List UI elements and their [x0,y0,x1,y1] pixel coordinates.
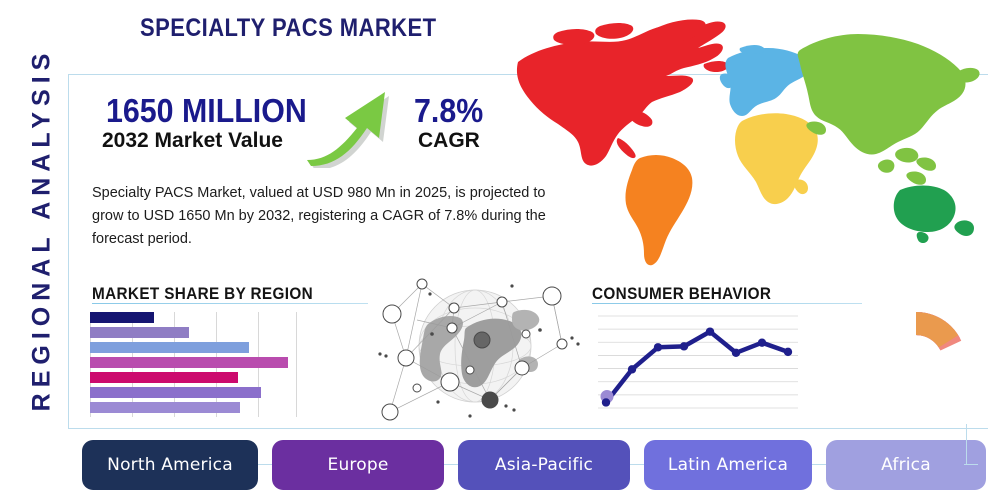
bar-item [90,312,154,323]
cagr-label: CAGR [418,129,480,153]
section-rule-consumer-behavior [592,303,862,304]
line-marker [628,365,636,373]
section-rule-market-share [92,303,368,304]
line-marker [758,338,766,346]
page-title: SPECIALTY PACS MARKET [140,14,436,43]
market-share-bar-chart [90,312,300,417]
region-tabs: North AmericaEuropeAsia-PacificLatin Ame… [82,440,978,490]
global-network-globe-icon [362,272,588,424]
bar-item [90,342,249,353]
region-share-donut-chart [862,306,970,418]
region-tab-europe[interactable]: Europe [272,440,444,490]
cagr-figure: 7.8% [414,92,483,130]
line-marker [732,349,740,357]
line-marker [706,327,714,335]
line-marker [602,398,610,406]
tab-connector [812,464,826,465]
region-tab-africa[interactable]: Africa [826,440,986,490]
section-heading-market-share: MARKET SHARE BY REGION [92,284,313,304]
world-map-icon [500,10,992,272]
region-tab-north-america[interactable]: North America [82,440,258,490]
tab-tail-vertical-connector [966,424,967,465]
bar-item [90,387,261,398]
tab-connector [258,464,272,465]
section-heading-consumer-behavior: CONSUMER BEHAVIOR [592,284,771,304]
bar-item [90,327,189,338]
tab-connector [630,464,644,465]
bar-item [90,357,288,368]
consumer-behavior-line-chart [598,308,798,416]
growth-arrow-icon [301,86,401,168]
line-marker [680,342,688,350]
tab-connector [444,464,458,465]
bar-item [90,402,240,413]
market-value-label: 2032 Market Value [102,129,283,153]
side-label-regional-analysis: REGIONAL ANALYSIS [28,20,57,440]
bar-item [90,372,238,383]
region-tab-latin-america[interactable]: Latin America [644,440,812,490]
infographic-root: REGIONAL ANALYSIS SPECIALTY PACS MARKET … [0,0,1000,500]
line-marker [654,343,662,351]
region-tab-asia-pacific[interactable]: Asia-Pacific [458,440,630,490]
market-value-figure: 1650 MILLION [106,92,307,130]
line-marker [784,348,792,356]
hero-stats: 1650 MILLION 2032 Market Value 7.8% CAGR [96,92,516,172]
